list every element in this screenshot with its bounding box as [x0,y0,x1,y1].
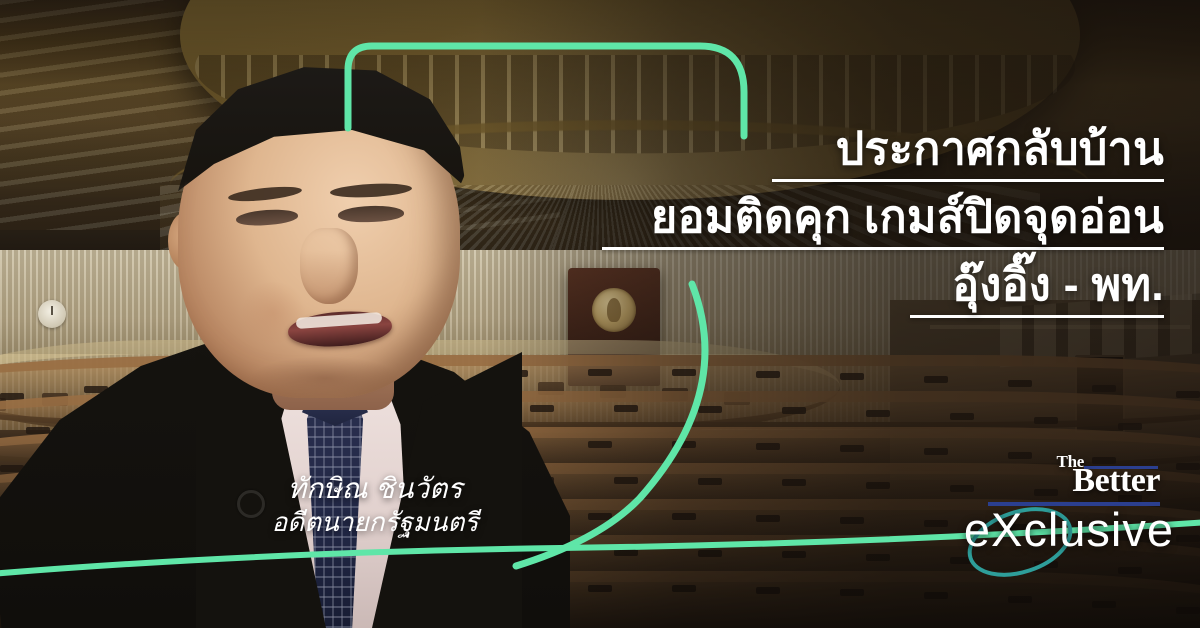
logo-exclusive-rest: clusive [1023,503,1174,556]
logo-exclusive: eXclusive [964,502,1174,557]
logo-the-better: The Better [988,454,1168,502]
caption-role: อดีตนายกรัฐมนตรี [232,506,518,539]
headline-row-1: ประกาศกลับบ้าน [484,126,1164,182]
nose [300,228,358,304]
chin-shadow [250,356,400,400]
subject-caption: ทักษิณ ชินวัตร อดีตนายกรัฐมนตรี [232,472,518,539]
brand-logo[interactable]: The Better eXclusive [948,454,1178,566]
headline-line-3: อุ๊งอิ๊ง - พท. [484,262,1164,307]
logo-better-text: Better [1072,462,1160,500]
cover-graphic: ประกาศกลับบ้าน ยอมติดคุก เกมส์ปิดจุดอ่อน… [0,0,1200,628]
headline: ประกาศกลับบ้าน ยอมติดคุก เกมส์ปิดจุดอ่อน… [484,126,1164,330]
caption-name: ทักษิณ ชินวัตร [232,472,518,506]
headline-rule-2 [602,247,1164,250]
headline-line-1: ประกาศกลับบ้าน [484,126,1164,171]
headline-row-2: ยอมติดคุก เกมส์ปิดจุดอ่อน [484,194,1164,250]
logo-exclusive-e: e [964,503,991,556]
logo-exclusive-x: X [991,503,1023,556]
headline-line-2: ยอมติดคุก เกมส์ปิดจุดอ่อน [484,194,1164,239]
headline-row-3: อุ๊งอิ๊ง - พท. [484,262,1164,318]
headline-rule-3 [910,315,1164,318]
headline-rule-1 [772,179,1164,182]
